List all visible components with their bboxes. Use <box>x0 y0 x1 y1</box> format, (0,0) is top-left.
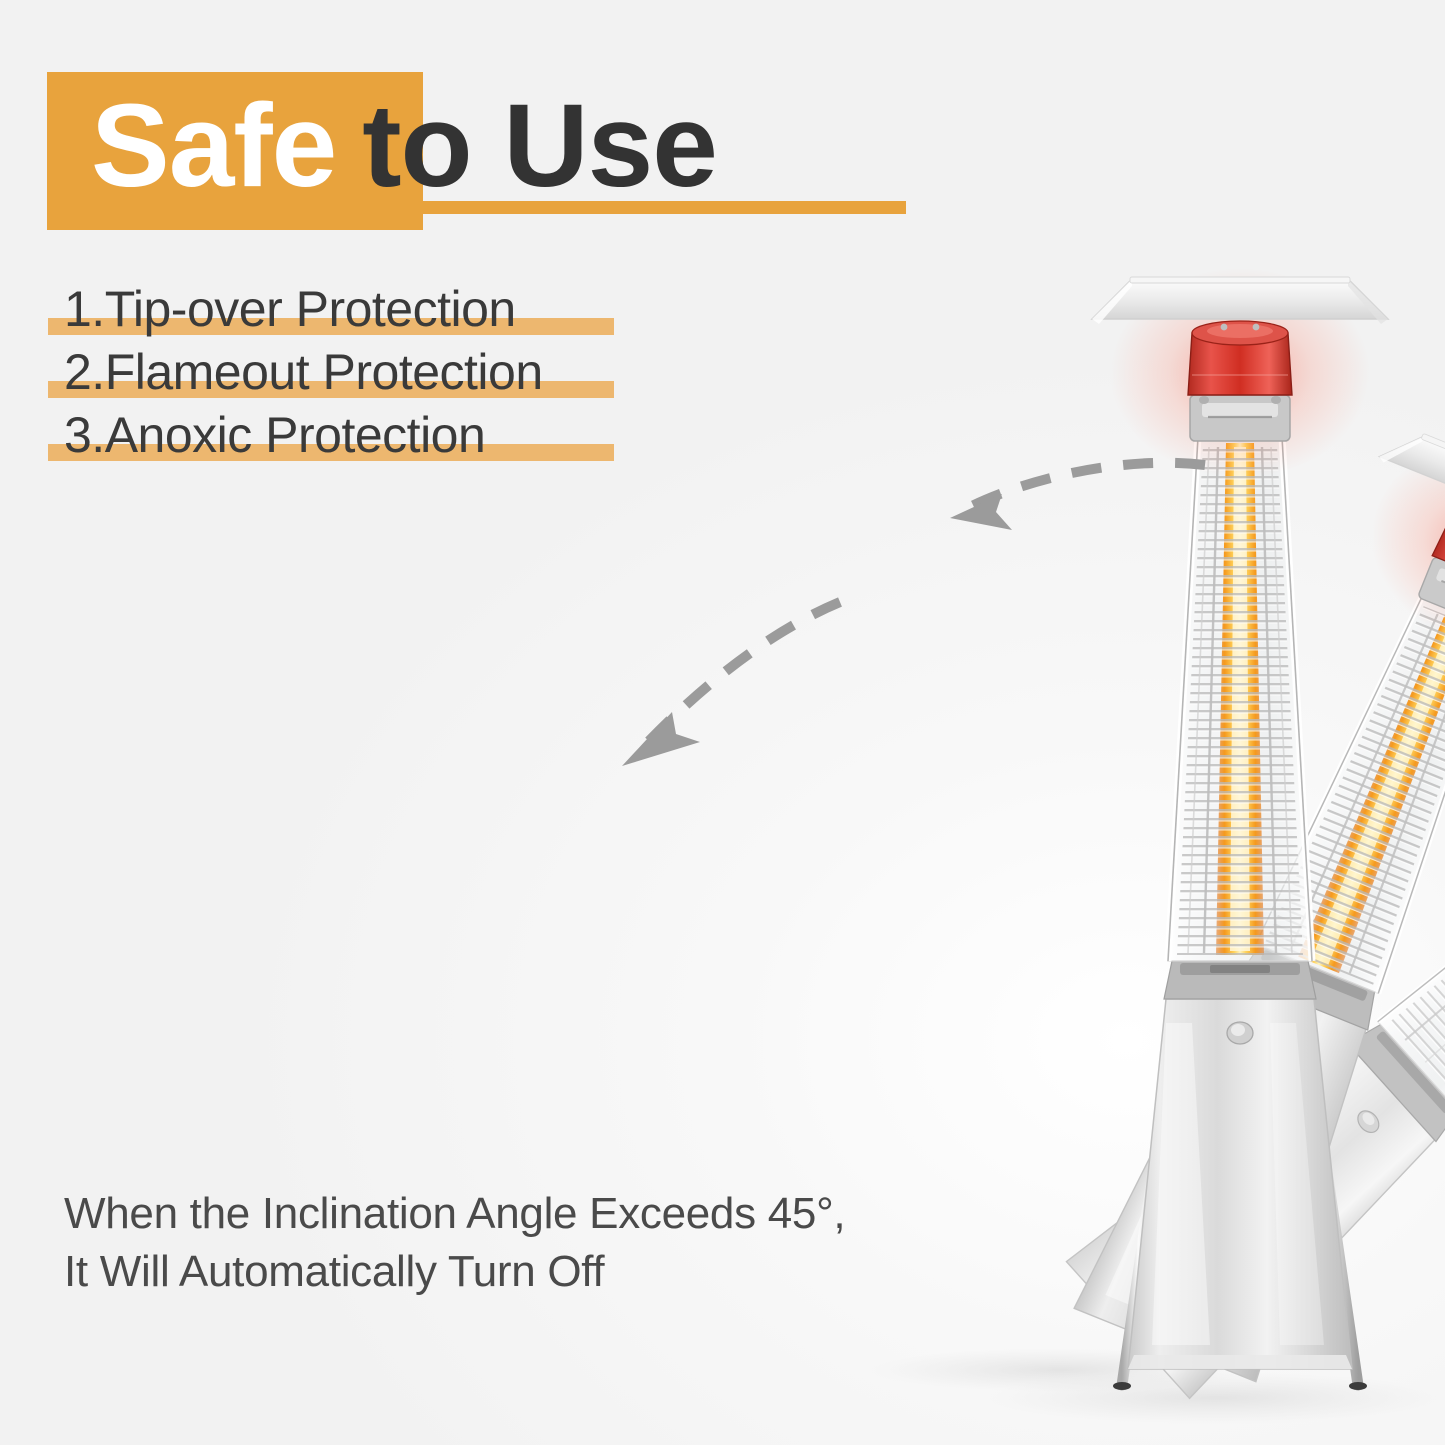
feature-label-3: 3.Anoxic Protection <box>64 404 684 467</box>
feature-list: 1.Tip-over Protection 2.Flameout Protect… <box>64 278 684 467</box>
reflector-upright <box>1092 279 1388 319</box>
feature-label-2: 2.Flameout Protection <box>64 341 684 404</box>
feature-item-2: 2.Flameout Protection <box>64 341 684 404</box>
feature-label-1: 1.Tip-over Protection <box>64 278 684 341</box>
title-word-highlighted: Safe <box>47 87 336 205</box>
page-title: Safe to Use <box>47 68 927 228</box>
feature-item-1: 1.Tip-over Protection <box>64 278 684 341</box>
caption-block: When the Inclination Angle Exceeds 45°, … <box>64 1185 924 1301</box>
title-word-plain: to Use <box>336 87 717 205</box>
title-text-row: Safe to Use <box>47 68 927 224</box>
foot-left <box>1113 1382 1131 1390</box>
caption-line-2: It Will Automatically Turn Off <box>64 1243 924 1301</box>
foot-right <box>1349 1382 1367 1390</box>
infographic-canvas: Safe to Use 1.Tip-over Protection 2.Flam… <box>0 0 1445 1445</box>
tip-arrow-2-arc <box>648 602 840 742</box>
feature-item-3: 3.Anoxic Protection <box>64 404 684 467</box>
tip-arrow-1 <box>950 463 1205 530</box>
tip-arrow-2-head <box>622 712 700 766</box>
caption-line-1: When the Inclination Angle Exceeds 45°, <box>64 1185 924 1243</box>
tip-arrow-2 <box>622 602 840 766</box>
